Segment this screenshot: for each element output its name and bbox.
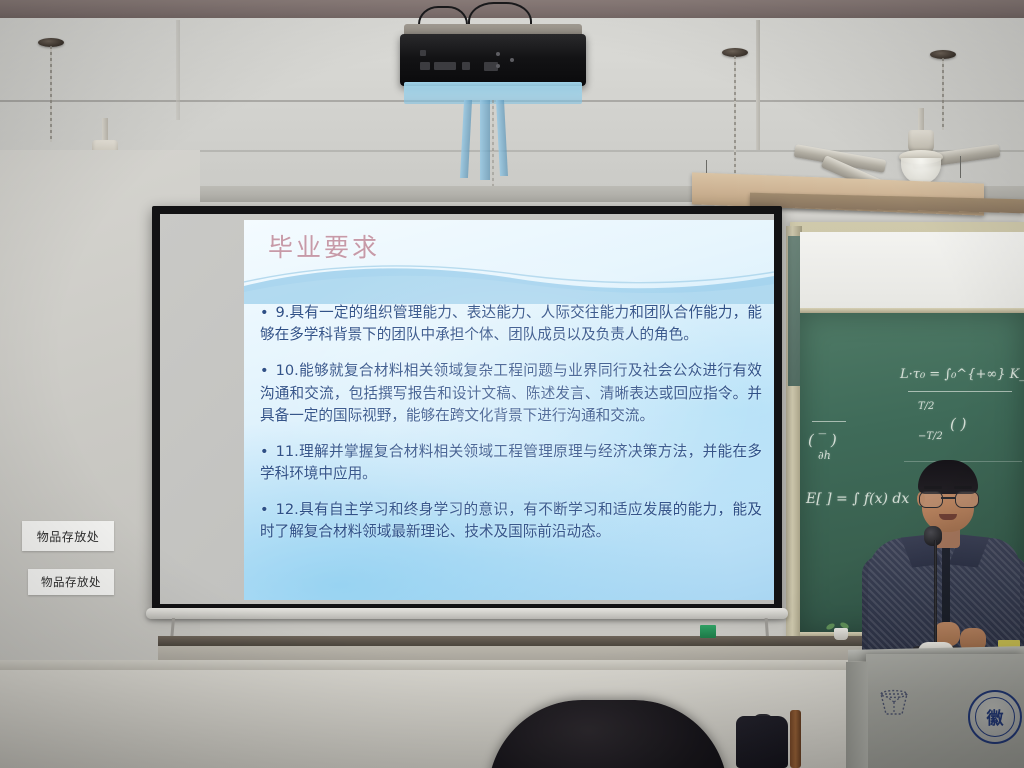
slide-title: 毕业要求 [268,228,380,264]
chalk-note: ( ‾ ) [808,431,837,449]
slide-bullet: • 9.具有一定的组织管理能力、表达能力、人际交往能力和团队合作能力，能够在多学… [260,302,762,346]
chalk-ledge [158,636,864,646]
door-glass-pane [788,236,800,386]
presenter-eyebrow [924,486,942,489]
chalk-underline [908,391,1012,392]
wall-sign-text: 物品存放处 [41,574,101,590]
wall-sign-text: 物品存放处 [37,528,100,545]
classroom-scene: 物品存放处 物品存放处 L·τ₀ = ∫₀^{+∞} K_x(τ) dτ ( ‾… [0,0,1024,768]
slide-bullet-text: 10.能够就复合材料相关领域复杂工程问题与业界同行及社会公众进行有效沟通和交流，… [260,362,762,423]
chalk-note: ∂h [818,449,831,462]
slide-bullet: • 10.能够就复合材料相关领域复杂工程问题与业界同行及社会公众进行有效沟通和交… [260,360,762,427]
ceiling-divider-beam [756,20,760,150]
whiteboard [800,232,1024,313]
projector-body [400,34,586,86]
projector-led [496,64,500,68]
ceiling-divider-beam [176,20,180,120]
slide-bullet: • 11.理解并掌握复合材料相关领域工程管理原理与经济决策方法，并能在多学科环境… [260,441,762,485]
projector-port [420,50,426,56]
projector-bracket [480,100,490,180]
cup-icon [878,688,910,716]
ceiling-chain [734,56,736,184]
slide-body: • 9.具有一定的组织管理能力、表达能力、人际交往能力和团队合作能力，能够在多学… [260,302,762,558]
glasses-icon [919,491,977,506]
bullet-marker: • [260,362,271,379]
presenter-eyebrow [954,486,972,489]
glasses-lens [955,491,979,508]
chalk-note: T/2 [918,401,934,412]
potted-plant [826,624,852,640]
chalk-note: −T/2 [918,431,943,442]
projector-chain [492,100,494,188]
slide-wave-decoration [244,262,774,304]
ceiling-chain [50,46,52,142]
lectern-side [846,662,868,768]
projector-led [496,52,500,56]
presenter [862,452,1024,668]
slide-bullet-text: 12.具有自主学习和终身学习的意识，有不断学习和适应发展的能力，能及时了解复合材… [260,501,762,540]
chair-back [790,710,801,768]
bullet-marker: • [260,304,271,321]
wall-sign-storage-2: 物品存放处 [28,569,114,595]
chalk-note: ( ) [950,415,966,433]
projector-led [510,58,514,62]
backpack [736,716,788,768]
microphone-head [924,526,942,546]
projector-port [434,62,456,70]
university-emblem-icon: 徽 [968,690,1022,744]
chalk-box [700,625,716,638]
microphone-stand [934,540,937,658]
projected-slide: 毕业要求 • 9.具有一定的组织管理能力、表达能力、人际交往能力和团队合作能力，… [244,220,774,600]
projector-port [420,62,430,70]
glasses-lens [919,491,943,508]
banner-wire [960,156,961,178]
slide-bullet: • 12.具有自主学习和终身学习的意识，有不断学习和适应发展的能力，能及时了解复… [260,499,762,543]
emblem-mark: 徽 [987,704,1004,729]
plant-pot [834,628,848,640]
projector-port [462,62,470,70]
chalk-note: L·τ₀ = ∫₀^{+∞} K_x(τ) dτ [900,367,1024,382]
projection-screen-frame: 毕业要求 • 9.具有一定的组织管理能力、表达能力、人际交往能力和团队合作能力，… [152,206,782,612]
bullet-marker: • [260,501,271,518]
slide-bullet-text: 9.具有一定的组织管理能力、表达能力、人际交往能力和团队合作能力，能够在多学科背… [260,304,762,343]
screen-bottom-bar [146,608,788,619]
wall-sign-storage-1: 物品存放处 [22,521,114,551]
slide-bullet-text: 11.理解并掌握复合材料相关领域工程管理原理与经济决策方法，并能在多学科环境中应… [260,443,762,482]
bullet-marker: • [260,443,271,460]
projection-screen-surface: 毕业要求 • 9.具有一定的组织管理能力、表达能力、人际交往能力和团队合作能力，… [160,214,774,604]
chalk-underline [812,421,846,422]
glasses-bridge [941,497,955,499]
